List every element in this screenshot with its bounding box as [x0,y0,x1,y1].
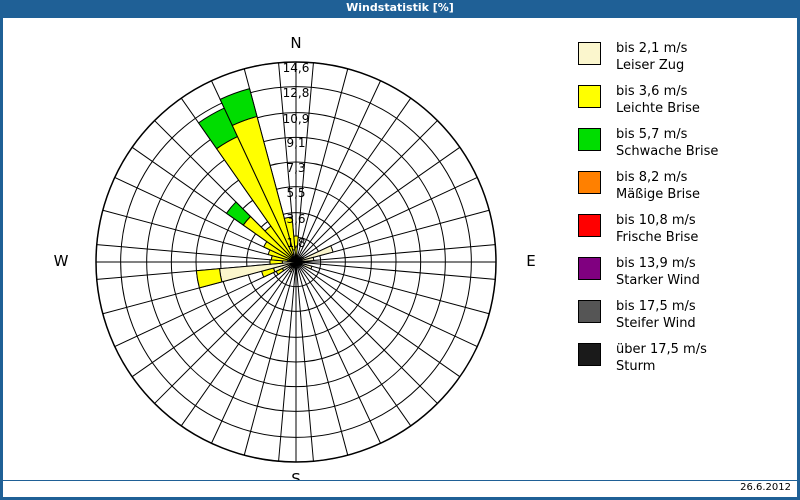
legend-name-label: Leichte Brise [616,100,700,117]
legend-label: bis 8,2 m/sMäßige Brise [616,169,700,203]
legend-name-label: Steifer Wind [616,315,696,332]
legend-name-label: Leiser Zug [616,57,687,74]
radial-tick-7: 12,8 [266,86,326,100]
legend-label: bis 2,1 m/sLeiser Zug [616,40,687,74]
legend-label: bis 5,7 m/sSchwache Brise [616,126,718,160]
legend-item-8[interactable]: über 17,5 m/sSturm [578,341,793,375]
radial-tick-5: 9,1 [266,136,326,150]
legend-item-5[interactable]: bis 10,8 m/sFrische Brise [578,212,793,246]
window-title: Windstatistik [%] [0,0,800,16]
legend-speed-label: bis 17,5 m/s [616,299,696,314]
radial-tick-3: 5,5 [266,186,326,200]
legend-item-1[interactable]: bis 2,1 m/sLeiser Zug [578,40,793,74]
legend-name-label: Schwache Brise [616,143,718,160]
radial-tick-1: 1,8 [266,236,326,250]
legend-label: bis 10,8 m/sFrische Brise [616,212,698,246]
footer-bar: 26.6.2012 [3,481,797,497]
legend-speed-label: bis 2,1 m/s [616,41,687,56]
legend-item-3[interactable]: bis 5,7 m/sSchwache Brise [578,126,793,160]
legend-label: über 17,5 m/sSturm [616,341,707,375]
legend-speed-label: bis 5,7 m/s [616,127,687,142]
legend-speed-label: bis 3,6 m/s [616,84,687,99]
legend-label: bis 17,5 m/sSteifer Wind [616,298,696,332]
legend-item-4[interactable]: bis 8,2 m/sMäßige Brise [578,169,793,203]
legend-speed-label: bis 13,9 m/s [616,256,696,271]
legend: bis 2,1 m/sLeiser Zugbis 3,6 m/sLeichte … [578,40,793,384]
legend-name-label: Frische Brise [616,229,698,246]
legend-item-6[interactable]: bis 13,9 m/sStarker Wind [578,255,793,289]
legend-swatch-icon [578,85,601,108]
radial-tick-2: 3,6 [266,212,326,226]
radial-tick-6: 10,9 [266,112,326,126]
legend-swatch-icon [578,343,601,366]
legend-speed-label: über 17,5 m/s [616,342,707,357]
legend-name-label: Sturm [616,358,707,375]
legend-item-2[interactable]: bis 3,6 m/sLeichte Brise [578,83,793,117]
legend-swatch-icon [578,300,601,323]
legend-swatch-icon [578,42,601,65]
legend-swatch-icon [578,171,601,194]
compass-label-west: W [41,252,81,270]
legend-name-label: Mäßige Brise [616,186,700,203]
legend-swatch-icon [578,257,601,280]
legend-swatch-icon [578,128,601,151]
compass-label-east: E [511,252,551,270]
radial-tick-4: 7,3 [266,161,326,175]
radial-tick-8: 14,6 [266,61,326,75]
legend-swatch-icon [578,214,601,237]
legend-speed-label: bis 10,8 m/s [616,213,696,228]
footer-date: 26.6.2012 [740,482,791,493]
legend-item-7[interactable]: bis 17,5 m/sSteifer Wind [578,298,793,332]
compass-label-north: N [276,34,316,52]
chart-canvas: N E S W 1,83,65,57,39,110,912,814,6 bis … [3,18,797,480]
legend-name-label: Starker Wind [616,272,700,289]
legend-label: bis 13,9 m/sStarker Wind [616,255,700,289]
legend-speed-label: bis 8,2 m/s [616,170,687,185]
compass-label-south: S [276,470,316,480]
legend-label: bis 3,6 m/sLeichte Brise [616,83,700,117]
window-frame: Windstatistik [%] N E S W 1,83,65,57,39,… [0,0,800,500]
